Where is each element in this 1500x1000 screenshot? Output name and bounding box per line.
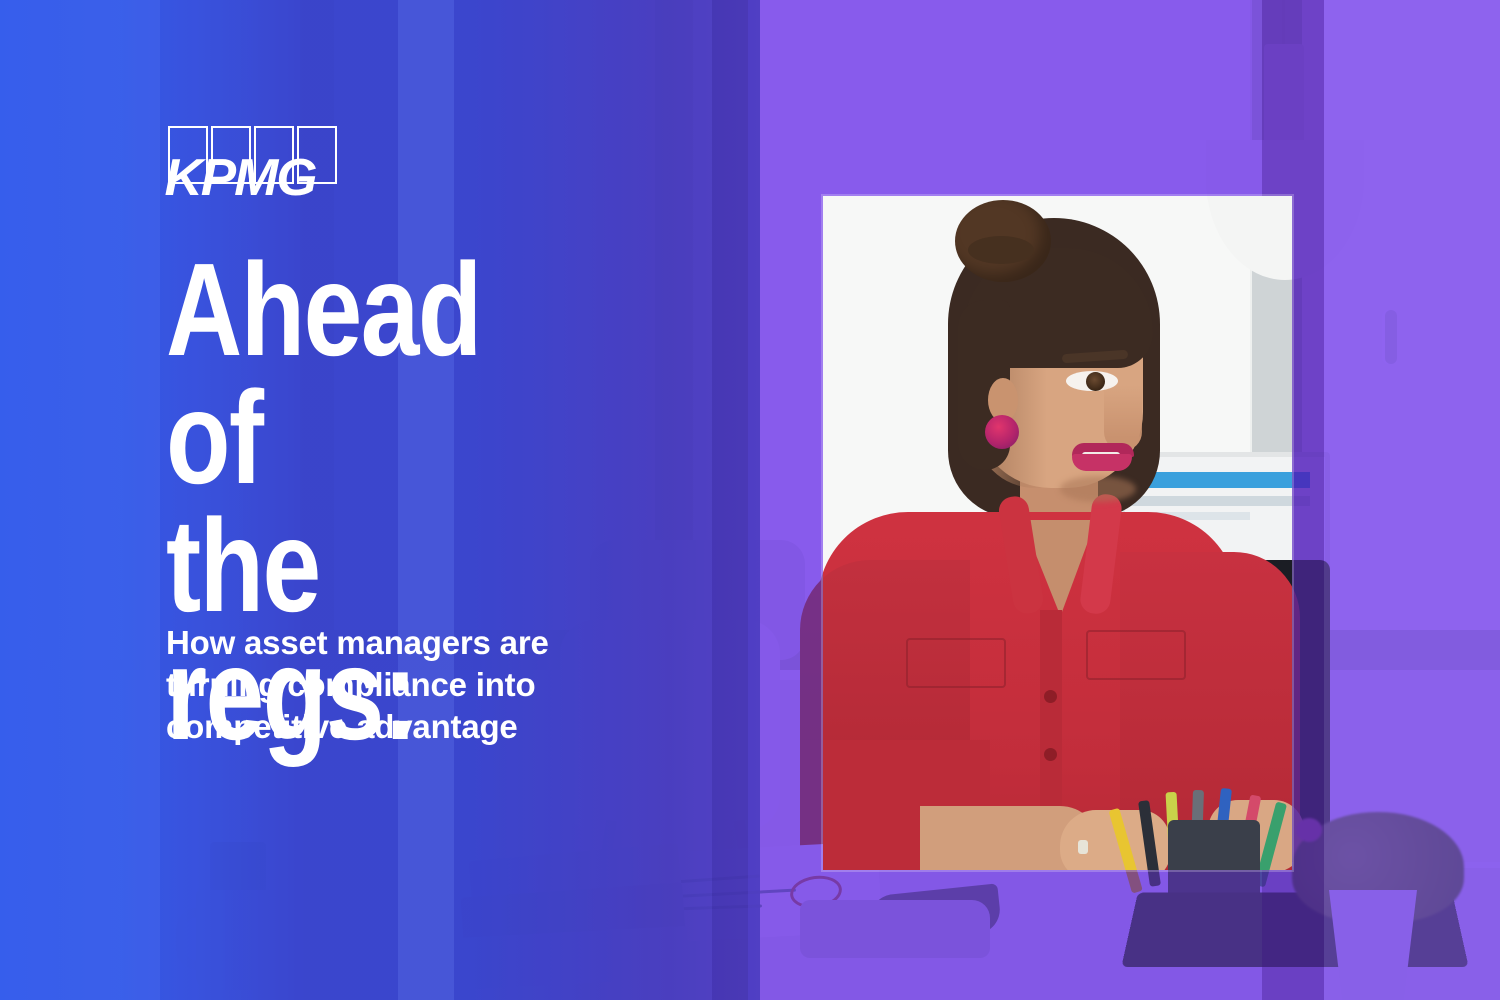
subject-person-clear <box>823 196 1292 870</box>
blouse-button <box>1044 748 1057 761</box>
blouse-button <box>1044 690 1057 703</box>
hero-banner: KPMG Ahead of the regs: How asset manage… <box>0 0 1500 1000</box>
pencil-cup <box>1168 820 1260 870</box>
earring <box>985 415 1019 449</box>
chin-shading <box>1060 476 1136 502</box>
ring <box>1078 840 1088 854</box>
kpmg-wordmark: KPMG <box>165 152 316 204</box>
hair-bun-wrap <box>968 236 1034 264</box>
lip-lower <box>1072 454 1132 471</box>
page-subtitle: How asset managers are turning complianc… <box>166 622 706 748</box>
blouse-pocket-left <box>906 638 1006 688</box>
nose <box>1104 385 1142 451</box>
iris <box>1086 372 1105 391</box>
photo-highlight-panel <box>823 196 1292 870</box>
kpmg-logo[interactable]: KPMG <box>168 126 328 198</box>
blouse-pocket-right <box>1086 630 1186 680</box>
office-photo-scene-clear <box>823 196 1292 870</box>
photo-clear-crop <box>823 196 1292 870</box>
